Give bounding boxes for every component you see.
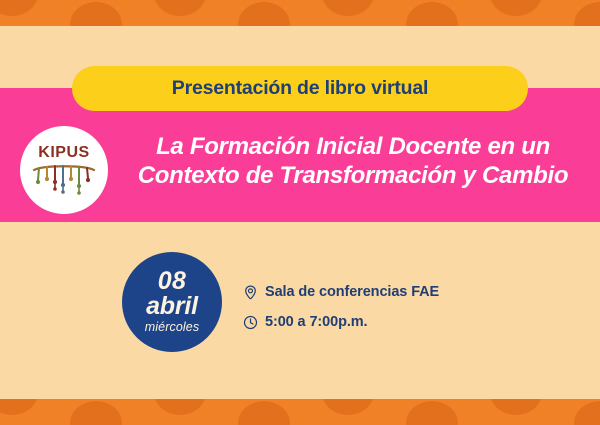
banner-pill: Presentación de libro virtual	[72, 66, 528, 111]
location-pin-icon	[243, 285, 258, 300]
event-time-text: 5:00 a 7:00p.m.	[265, 314, 367, 330]
event-date-weekday: miércoles	[145, 319, 199, 335]
event-detail-location: Sala de conferencias FAE	[243, 281, 439, 303]
event-title-line-1: La Formación Inicial Docente en un	[118, 132, 588, 161]
kipus-logo-icon: KIPUS	[28, 139, 100, 201]
bottom-decorative-band	[0, 399, 600, 425]
event-title-line-2: Contexto de Transformación y Cambio	[118, 161, 588, 190]
event-date-day: 08	[158, 269, 187, 293]
event-detail-time: 5:00 a 7:00p.m.	[243, 311, 439, 333]
top-decorative-band	[0, 0, 600, 26]
kipus-logo-badge: KIPUS	[20, 126, 108, 214]
event-date-month: abril	[146, 293, 198, 319]
svg-text:KIPUS: KIPUS	[38, 144, 89, 161]
clock-icon	[243, 315, 258, 330]
event-title: La Formación Inicial Docente en un Conte…	[118, 132, 588, 190]
event-date-badge: 08 abril miércoles	[122, 252, 222, 352]
event-flyer: Presentación de libro virtual KIPUS	[0, 0, 600, 425]
banner-label: Presentación de libro virtual	[172, 77, 428, 100]
event-details: Sala de conferencias FAE 5:00 a 7:00p.m.	[243, 281, 439, 341]
event-location-text: Sala de conferencias FAE	[265, 284, 439, 300]
